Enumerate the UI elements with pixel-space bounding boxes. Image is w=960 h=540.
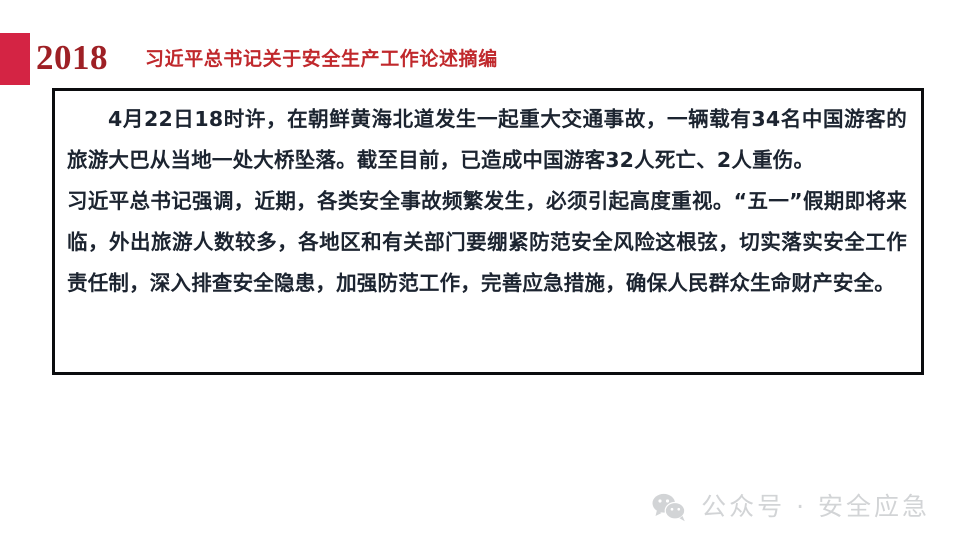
header-year: 2018 (36, 35, 108, 81)
quote-paragraph-2: 习近平总书记强调，近期，各类安全事故频繁发生，必须引起高度重视。“五一”假期即将… (67, 181, 907, 304)
page-title: 习近平总书记关于安全生产工作论述摘编 (145, 46, 498, 72)
quote-paragraph-1: 4月22日18时许，在朝鲜黄海北道发生一起重大交通事故，一辆载有34名中国游客的… (67, 99, 907, 181)
red-block-icon (0, 33, 30, 85)
slide-header: 2018 习近平总书记关于安全生产工作论述摘编 (0, 33, 960, 87)
quote-box: 4月22日18时许，在朝鲜黄海北道发生一起重大交通事故，一辆载有34名中国游客的… (52, 88, 924, 375)
wechat-icon (651, 492, 687, 522)
slide-canvas: 2018 习近平总书记关于安全生产工作论述摘编 4月22日18时许，在朝鲜黄海北… (0, 0, 960, 540)
footer-watermark: 公众号 · 安全应急 (651, 492, 930, 522)
footer-label: 公众号 · 安全应急 (701, 492, 930, 522)
quote-body: 4月22日18时许，在朝鲜黄海北道发生一起重大交通事故，一辆载有34名中国游客的… (67, 99, 907, 304)
